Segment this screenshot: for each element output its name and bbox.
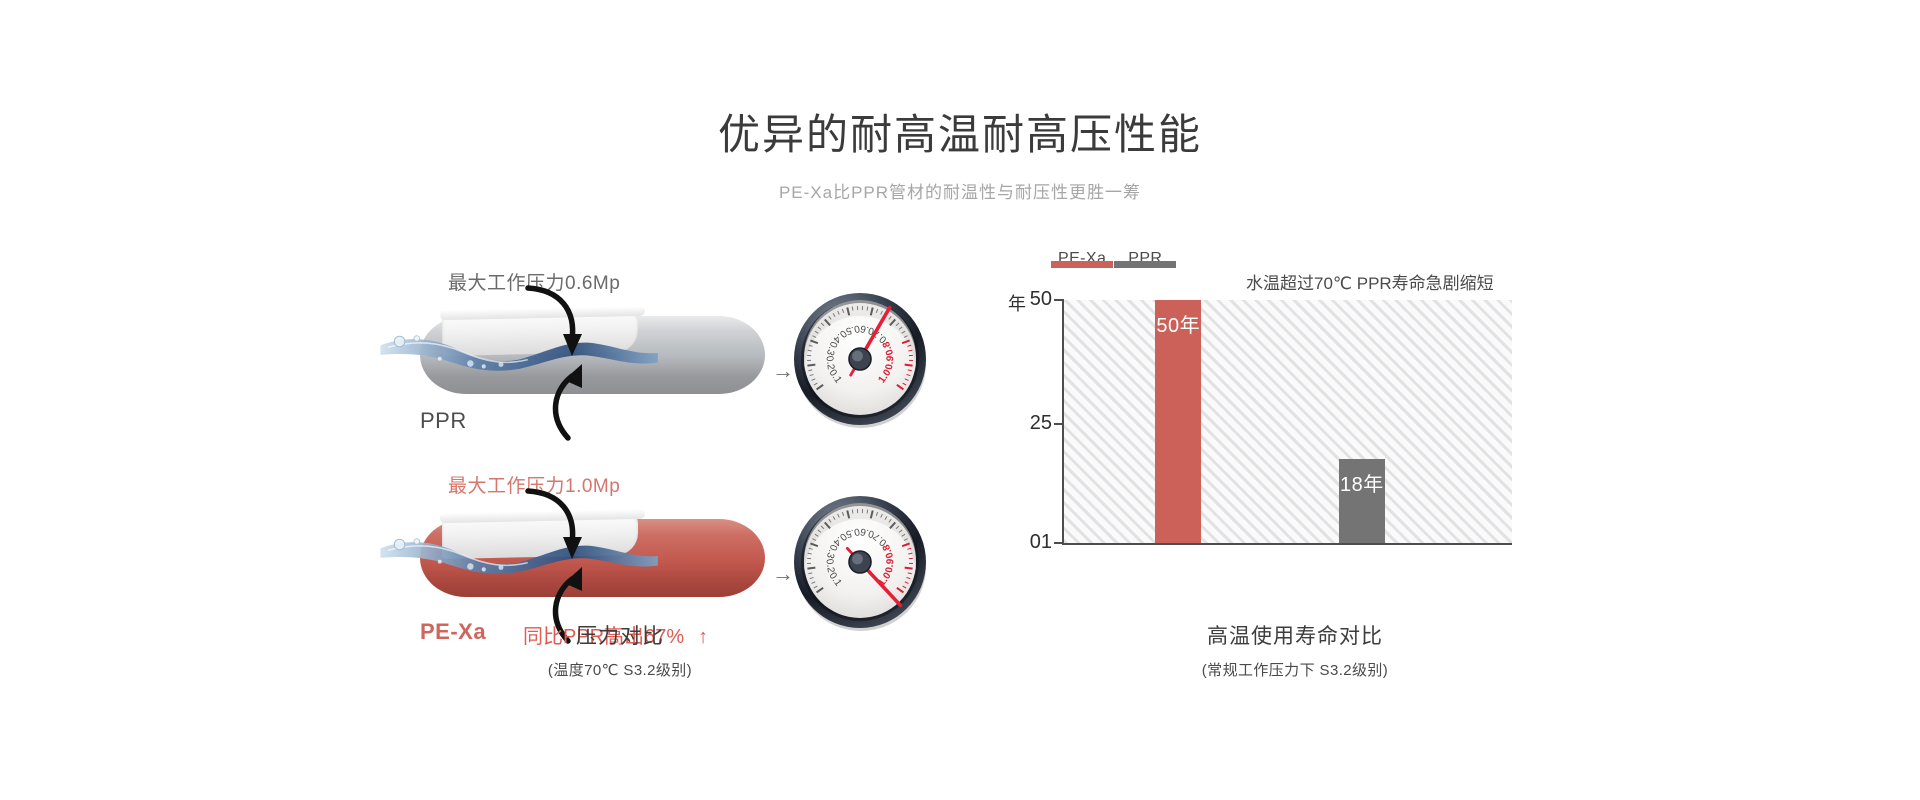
page-title: 优异的耐高温耐高压性能 <box>0 110 1920 160</box>
infographic-page: 优异的耐高温耐高压性能 PE-Xa比PPR管材的耐温性与耐压性更胜一筹 最大工作… <box>0 0 1920 800</box>
svg-text:0.2: 0.2 <box>823 355 836 371</box>
y-axis-tick <box>1054 299 1064 301</box>
ppr-pressure-callout: 最大工作压力0.6Mp <box>448 268 620 295</box>
legend-swatch-ppr <box>1114 261 1176 268</box>
y-axis-unit: 年 <box>1008 290 1026 316</box>
svg-text:0.2: 0.2 <box>823 558 836 574</box>
chart-annotation: 水温超过70℃ PPR寿命急剧缩短 <box>1246 269 1494 294</box>
y-axis-tick <box>1054 542 1064 544</box>
page-header: 优异的耐高温耐高压性能 PE-Xa比PPR管材的耐温性与耐压性更胜一筹 <box>0 110 1920 203</box>
svg-text:0.9: 0.9 <box>884 558 897 574</box>
svg-text:0.9: 0.9 <box>884 355 897 371</box>
chart-legend: PE-Xa PPR <box>1058 250 1162 268</box>
ppr-pressure-gauge: 0.10.20.30.40.50.60.70.80.91.0 <box>785 284 935 439</box>
y-axis-tick <box>1054 423 1064 425</box>
ppr-label: PPR <box>420 408 467 434</box>
legend-item-ppr[interactable]: PPR <box>1128 250 1162 268</box>
water-flow-icon <box>372 330 672 374</box>
page-subtitle: PE-Xa比PPR管材的耐温性与耐压性更胜一筹 <box>0 178 1920 203</box>
pexa-pressure-gauge: 0.10.20.30.40.50.60.70.80.91.0 <box>785 487 935 642</box>
pressure-caption: 压力对比 (温度70℃ S3.2级别) <box>410 620 830 680</box>
y-axis-tick-label: 50 <box>1030 288 1052 311</box>
pexa-pipe-illustration: → <box>420 509 765 604</box>
bar-pe-xa[interactable]: 50年 <box>1155 300 1201 543</box>
lifespan-caption: 高温使用寿命对比 (常规工作压力下 S3.2级别) <box>1085 620 1505 680</box>
bar-ppr[interactable]: 18年 <box>1339 459 1385 543</box>
legend-swatch-pexa <box>1051 261 1113 268</box>
lifespan-chart: PE-Xa PPR 水温超过70℃ PPR寿命急剧缩短 年 50250150年1… <box>1020 260 1540 620</box>
water-flow-icon <box>372 533 672 577</box>
ppr-pipe-row: 最大工作压力0.6Mp <box>360 270 980 445</box>
lifespan-caption-sub: (常规工作压力下 S3.2级别) <box>1085 659 1505 680</box>
pexa-pressure-callout: 最大工作压力1.0Mp <box>448 471 620 498</box>
y-axis-tick-label: 01 <box>1030 531 1052 554</box>
chart-plot-area: 年 50250150年18年 <box>1062 300 1512 545</box>
y-axis-tick-label: 25 <box>1030 412 1052 435</box>
ppr-pipe-illustration: → <box>420 306 765 401</box>
bar-value-label: 50年 <box>1156 309 1200 543</box>
pressure-caption-sub: (温度70℃ S3.2级别) <box>410 659 830 680</box>
lifespan-caption-title: 高温使用寿命对比 <box>1085 620 1505 650</box>
pressure-caption-title: 压力对比 <box>410 620 830 650</box>
bar-value-label: 18年 <box>1340 468 1384 543</box>
legend-item-pexa[interactable]: PE-Xa <box>1058 250 1106 268</box>
plot-hatch-background <box>1064 300 1512 543</box>
